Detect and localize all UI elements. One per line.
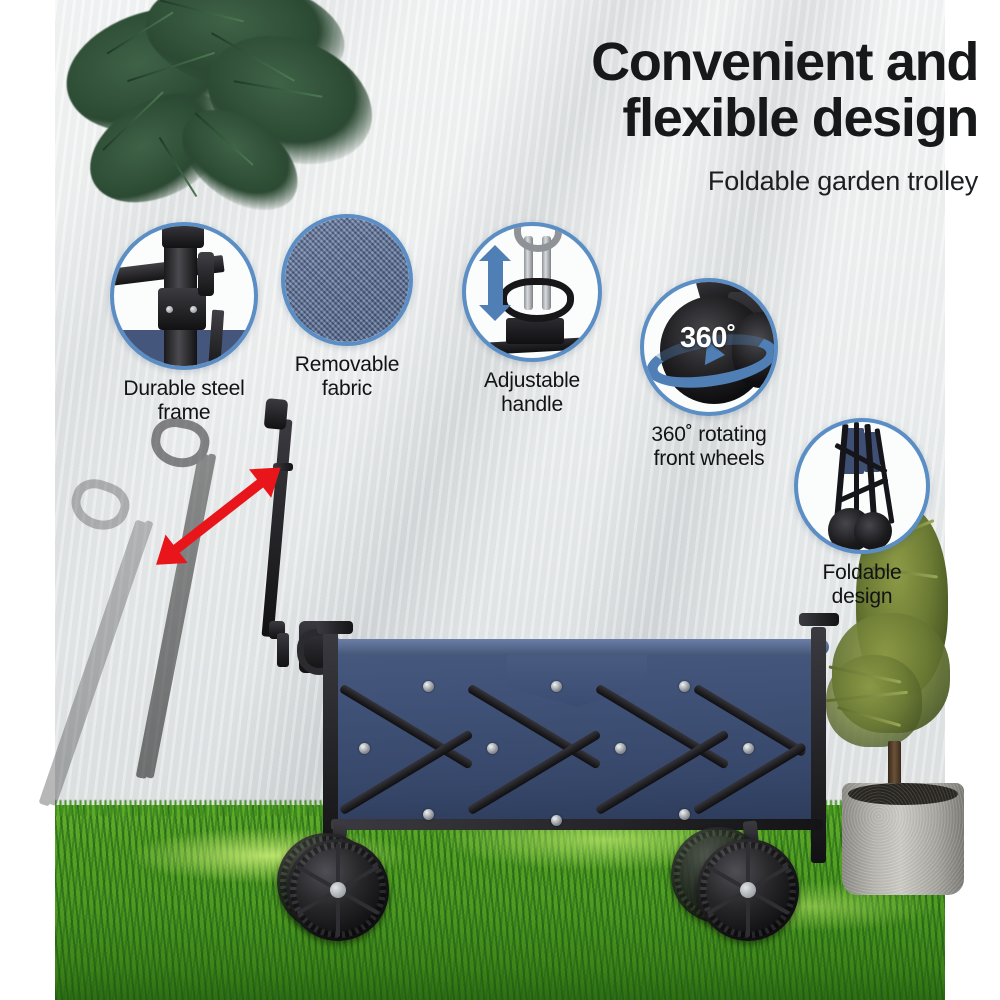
product-feature-image: Convenient and flexible design Foldable …: [0, 0, 1000, 1000]
wagon-rim: [329, 639, 829, 655]
pine-branch: [55, 0, 355, 230]
headline-line-2: flexible design: [418, 90, 978, 146]
rotating-wheel-icon: 360˚: [640, 278, 778, 416]
concrete-planter: [842, 783, 964, 895]
page-title: Convenient and flexible design: [418, 34, 978, 146]
wheel-front: [287, 839, 389, 941]
steel-frame-joint-icon: [110, 222, 258, 370]
wagon-rail-top-front: [317, 621, 353, 634]
feature-adjustable-handle: Adjustable handle: [452, 222, 612, 417]
feature-removable-fabric: Removable fabric: [272, 214, 422, 401]
subtitle: Foldable garden trolley: [418, 166, 978, 197]
headline-line-1: Convenient and: [418, 34, 978, 90]
wheel-rear: [697, 839, 799, 941]
fabric-swatch-icon: [281, 214, 413, 346]
feature-label-removable-fabric: Removable fabric: [272, 353, 422, 401]
feature-label-durable-steel-frame: Durable steel frame: [104, 377, 264, 425]
adjustable-handle-icon: [462, 222, 602, 362]
badge-360: 360˚: [680, 322, 736, 355]
up-down-arrow-icon: [488, 260, 503, 306]
wagon-rail-top-rear: [799, 613, 839, 626]
feature-durable-steel-frame: Durable steel frame: [104, 222, 264, 425]
product-wagon: GARDEON® OUTDOOR LIVING: [255, 415, 815, 945]
feature-label-adjustable-handle: Adjustable handle: [452, 369, 612, 417]
